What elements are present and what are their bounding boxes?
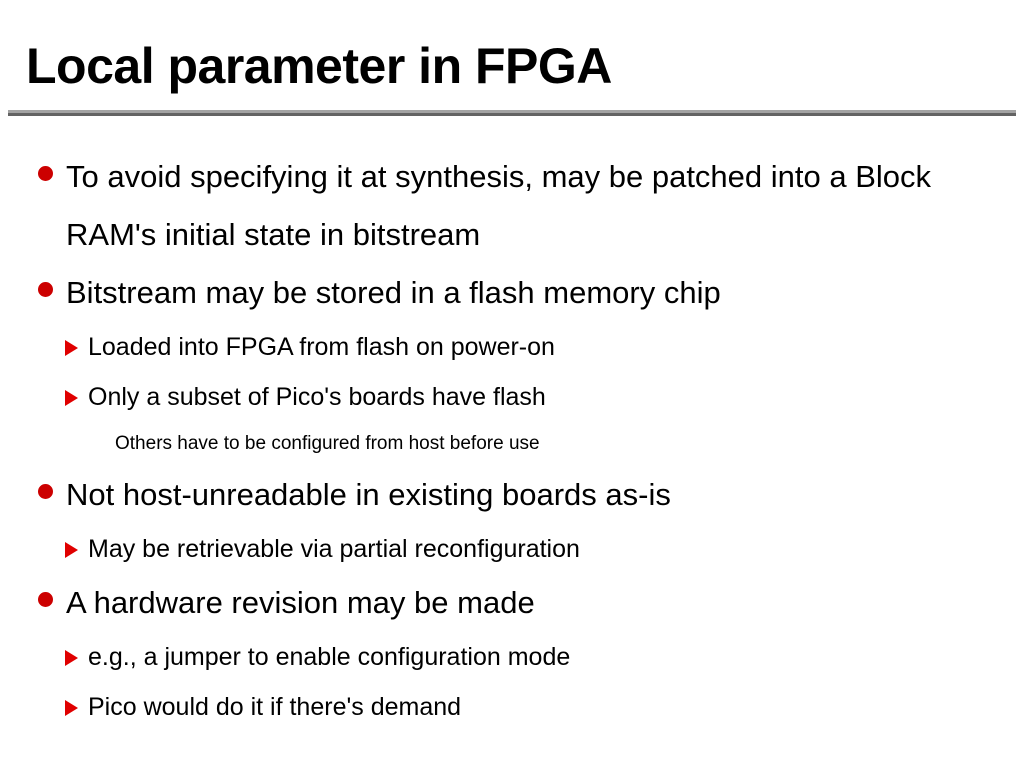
bullet-text: Others have to be configured from host b… (115, 422, 1004, 466)
slide-title: Local parameter in FPGA (26, 38, 612, 94)
bullet-item-level2: May be retrievable via partial reconfigu… (0, 524, 1024, 574)
bullet-text: Not host-unreadable in existing boards a… (66, 466, 1004, 524)
bullet-text: A hardware revision may be made (66, 574, 1004, 632)
bullet-dot-icon (38, 166, 53, 181)
bullet-item-level2: Pico would do it if there's demand (0, 682, 1024, 732)
bullet-text: e.g., a jumper to enable configuration m… (88, 632, 1004, 682)
bullet-text: Loaded into FPGA from flash on power-on (88, 322, 1004, 372)
bullet-triangle-icon (65, 340, 78, 356)
bullet-item-level1: Not host-unreadable in existing boards a… (0, 466, 1024, 524)
bullet-item-level1: A hardware revision may be made (0, 574, 1024, 632)
bullet-triangle-icon (65, 390, 78, 406)
bullet-text: May be retrievable via partial reconfigu… (88, 524, 1004, 574)
bullet-dot-icon (38, 282, 53, 297)
slide-body-list: To avoid specifying it at synthesis, may… (0, 148, 1024, 732)
bullet-item-level2: Only a subset of Pico's boards have flas… (0, 372, 1024, 422)
bullet-triangle-icon (65, 700, 78, 716)
bullet-triangle-icon (65, 542, 78, 558)
bullet-item-level1: Bitstream may be stored in a flash memor… (0, 264, 1024, 322)
bullet-text: Only a subset of Pico's boards have flas… (88, 372, 1004, 422)
bullet-item-level2: e.g., a jumper to enable configuration m… (0, 632, 1024, 682)
bullet-triangle-icon (65, 650, 78, 666)
bullet-text: To avoid specifying it at synthesis, may… (66, 148, 1004, 264)
bullet-dot-icon (38, 592, 53, 607)
slide: Local parameter in FPGA To avoid specify… (0, 0, 1024, 768)
bullet-text: Bitstream may be stored in a flash memor… (66, 264, 1004, 322)
rule-dark-band (8, 113, 1016, 116)
bullet-item-level1: To avoid specifying it at synthesis, may… (0, 148, 1024, 264)
bullet-dot-icon (38, 484, 53, 499)
bullet-item-level3: Others have to be configured from host b… (0, 422, 1024, 466)
bullet-text: Pico would do it if there's demand (88, 682, 1004, 732)
title-separator-rule (8, 110, 1016, 116)
bullet-item-level2: Loaded into FPGA from flash on power-on (0, 322, 1024, 372)
